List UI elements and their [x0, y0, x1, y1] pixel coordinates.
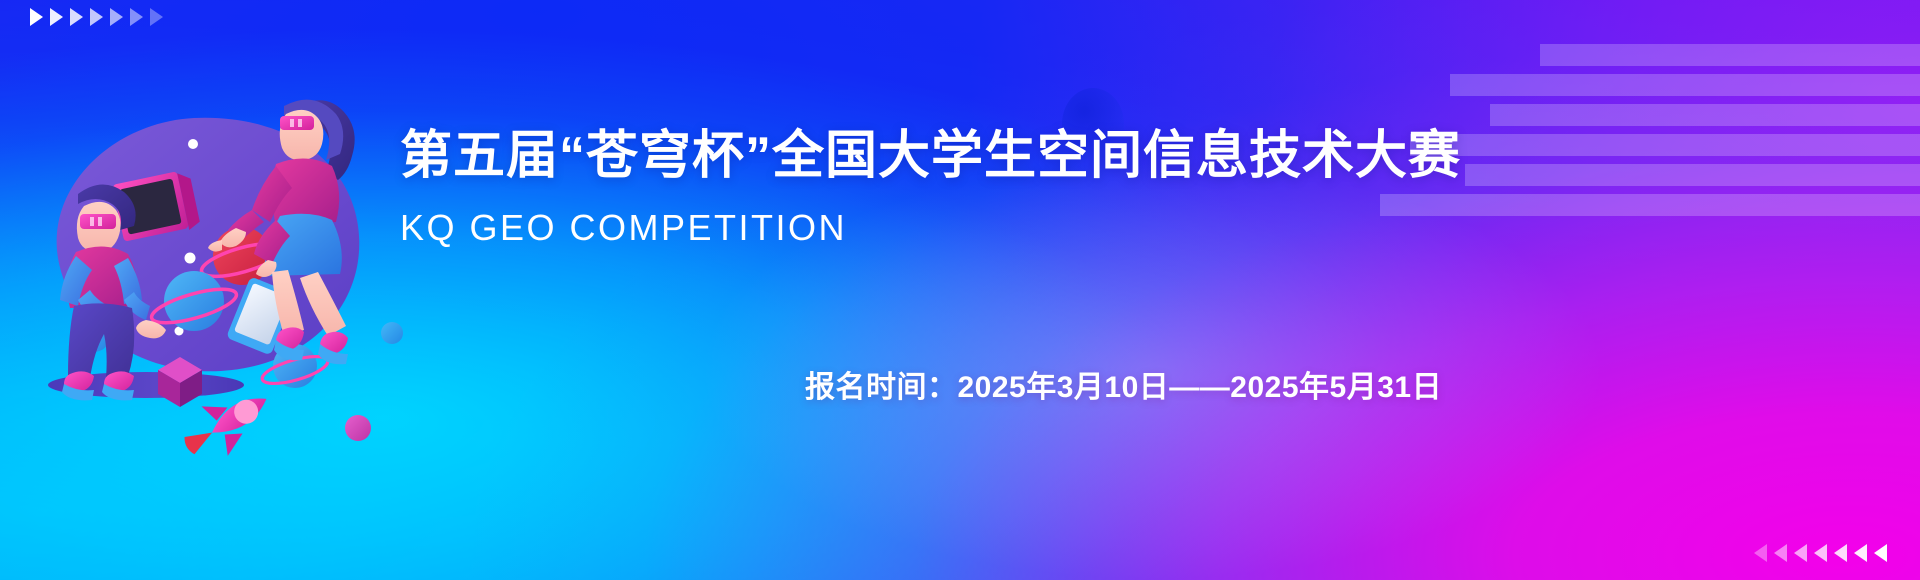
triangle-right-icon: [90, 8, 103, 26]
page-subtitle: KQ GEO COMPETITION: [400, 207, 1461, 249]
triangle-right-icon: [130, 8, 143, 26]
triangle-right-icon: [50, 8, 63, 26]
registration-period-text: 报名时间：2025年3月10日——2025年5月31日: [805, 362, 1442, 406]
stripe-4: [1410, 134, 1920, 156]
banner-text-block: 第五届“苍穹杯”全国大学生空间信息技术大赛 KQ GEO COMPETITION: [400, 128, 1461, 249]
planet-dot-right: [381, 322, 403, 344]
top-left-arrow-decoration: [30, 8, 170, 26]
triangle-left-icon: [1814, 544, 1827, 562]
triangle-right-icon: [30, 8, 43, 26]
triangle-right-icon: [70, 8, 83, 26]
triangle-left-icon: [1834, 544, 1847, 562]
page-title: 第五届“苍穹杯”全国大学生空间信息技术大赛: [400, 128, 1461, 185]
triangle-left-icon: [1754, 544, 1767, 562]
triangle-right-icon: [150, 8, 163, 26]
star-dot: [188, 139, 198, 149]
stripe-1: [1540, 44, 1920, 66]
triangle-left-icon: [1774, 544, 1787, 562]
competition-banner: 第五届“苍穹杯”全国大学生空间信息技术大赛 KQ GEO COMPETITION…: [0, 0, 1920, 580]
stripe-3: [1490, 104, 1920, 126]
triangle-left-icon: [1794, 544, 1807, 562]
stripe-5: [1465, 164, 1920, 186]
planet-pink-small: [345, 415, 371, 441]
stripe-2: [1450, 74, 1920, 96]
vr-students-space-illustration: [18, 78, 378, 408]
triangle-left-icon: [1874, 544, 1887, 562]
bottom-right-arrow-decoration: [1754, 544, 1894, 562]
triangle-left-icon: [1854, 544, 1867, 562]
star-dot: [185, 253, 196, 264]
triangle-right-icon: [110, 8, 123, 26]
